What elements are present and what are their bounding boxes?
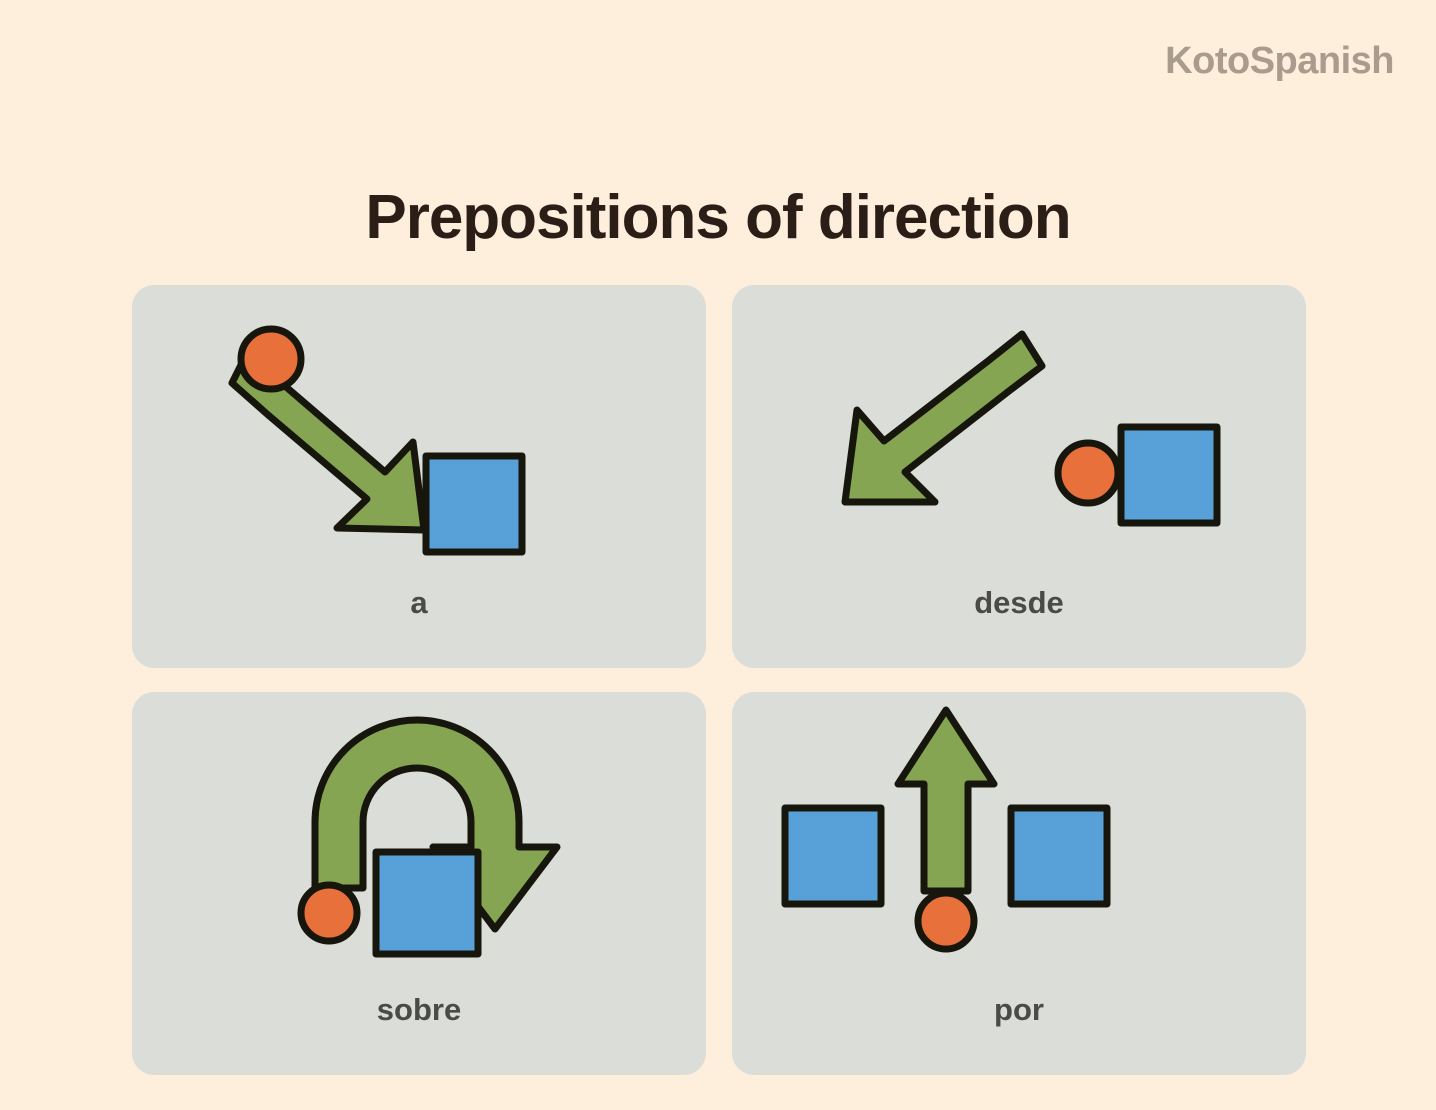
card-label-por: por: [732, 992, 1306, 1028]
arc-arrow-over-square-icon: [132, 692, 706, 987]
card-label-desde: desde: [732, 585, 1306, 621]
arrow-toward-square-icon: [132, 285, 706, 580]
page-title: Prepositions of direction: [0, 182, 1436, 253]
card-por: por: [732, 692, 1306, 1075]
brand-logo: KotoSpanish: [1165, 40, 1394, 83]
card-desde: desde: [732, 285, 1306, 668]
arrow-through-gap-icon: [732, 692, 1306, 987]
card-label-a: a: [132, 585, 706, 621]
card-label-sobre: sobre: [132, 992, 706, 1028]
cards-grid: a desde sobre: [132, 285, 1306, 1075]
card-a: a: [132, 285, 706, 668]
card-sobre: sobre: [132, 692, 706, 1075]
arrow-away-from-square-icon: [732, 285, 1306, 580]
